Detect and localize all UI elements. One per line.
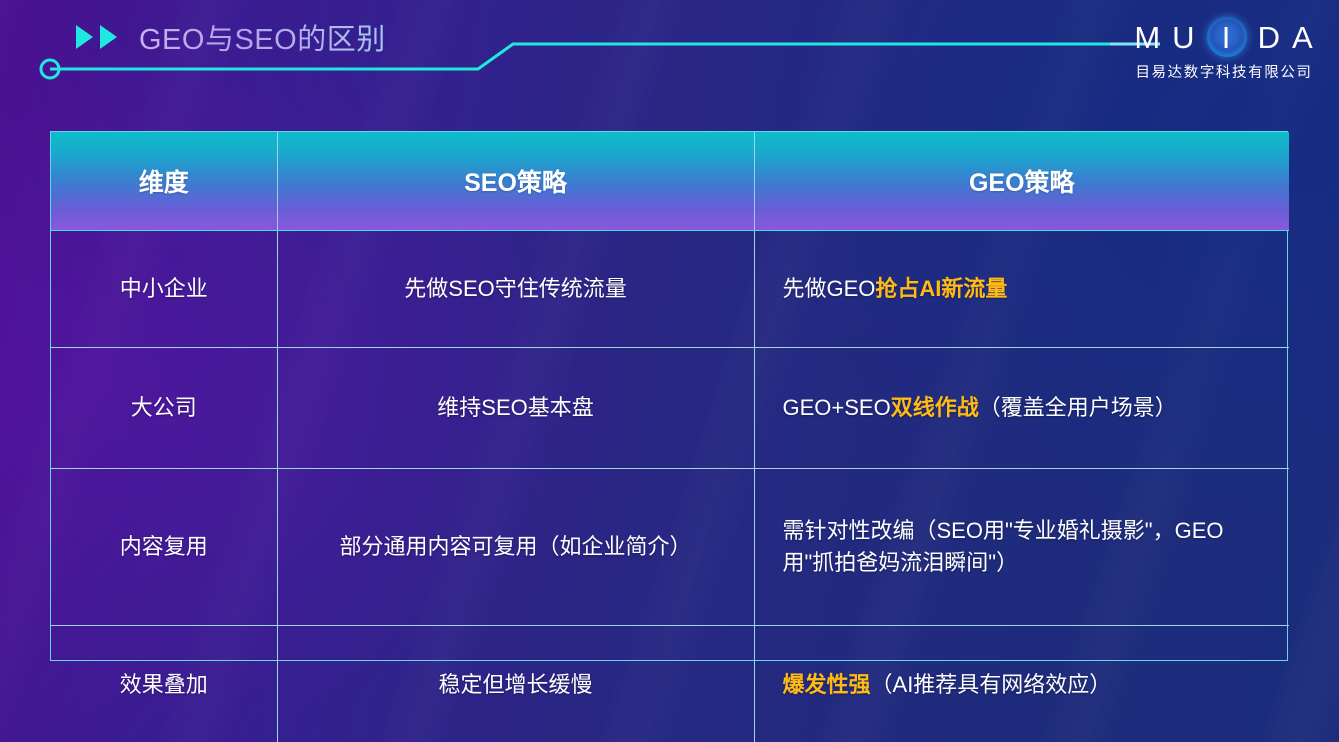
cell-dimension: 中小企业	[51, 231, 277, 348]
logo-letter-d: D	[1258, 22, 1281, 53]
cell-dimension: 大公司	[51, 348, 277, 469]
geo-text-plain: 先做GEO	[783, 276, 876, 301]
geo-text-trailing: （AI推荐具有网络效应）	[871, 672, 1112, 697]
table-row: 效果叠加 稳定但增长缓慢 爆发性强（AI推荐具有网络效应）	[51, 626, 1289, 742]
column-header-geo: GEO策略	[754, 132, 1289, 231]
column-header-seo: SEO策略	[277, 132, 754, 231]
title-bullets	[76, 25, 117, 49]
geo-text-trailing: （覆盖全用户场景）	[979, 395, 1177, 420]
slide-header: GEO与SEO的区别 M U I D A 目易达数字科技有限公司	[0, 0, 1339, 112]
triangle-right-icon	[76, 25, 93, 49]
cell-seo: 维持SEO基本盘	[277, 348, 754, 469]
cell-geo: GEO+SEO双线作战（覆盖全用户场景）	[754, 348, 1289, 469]
logo-orb-icon: I	[1207, 17, 1247, 57]
logo-letter-i: I	[1222, 22, 1232, 53]
comparison-table: 维度 SEO策略 GEO策略 中小企业 先做SEO守住传统流量 先做GEO抢占A…	[50, 131, 1288, 661]
brand-logo: M U I D A 目易达数字科技有限公司	[1131, 16, 1317, 82]
geo-text-plain: GEO+SEO	[783, 395, 891, 420]
geo-text-highlight: 抢占AI新流量	[875, 276, 1007, 301]
geo-text-highlight: 爆发性强	[783, 672, 871, 697]
cell-seo: 稳定但增长缓慢	[277, 626, 754, 742]
cell-geo: 需针对性改编（SEO用"专业婚礼摄影"，GEO用"抓拍爸妈流泪瞬间"）	[754, 469, 1289, 626]
cell-dimension: 效果叠加	[51, 626, 277, 742]
triangle-right-icon	[100, 25, 117, 49]
table-row: 内容复用 部分通用内容可复用（如企业简介） 需针对性改编（SEO用"专业婚礼摄影…	[51, 469, 1289, 626]
column-header-dimension: 维度	[51, 132, 277, 231]
logo-wordmark: M U I D A	[1131, 16, 1317, 58]
company-name: 目易达数字科技有限公司	[1131, 61, 1317, 82]
logo-letter-m: M	[1134, 22, 1161, 53]
cell-geo: 爆发性强（AI推荐具有网络效应）	[754, 626, 1289, 742]
slide-root: GEO与SEO的区别 M U I D A 目易达数字科技有限公司 维度	[0, 0, 1339, 742]
page-title: GEO与SEO的区别	[76, 16, 386, 58]
table-header-row: 维度 SEO策略 GEO策略	[51, 132, 1289, 231]
cell-seo: 部分通用内容可复用（如企业简介）	[277, 469, 754, 626]
geo-text-highlight: 双线作战	[891, 395, 979, 420]
table-row: 大公司 维持SEO基本盘 GEO+SEO双线作战（覆盖全用户场景）	[51, 348, 1289, 469]
page-title-text: GEO与SEO的区别	[139, 16, 386, 58]
logo-letter-a: A	[1292, 22, 1314, 53]
table-row: 中小企业 先做SEO守住传统流量 先做GEO抢占AI新流量	[51, 231, 1289, 348]
geo-text-plain: 需针对性改编（SEO用"专业婚礼摄影"，GEO用"抓拍爸妈流泪瞬间"）	[783, 518, 1224, 575]
cell-seo: 先做SEO守住传统流量	[277, 231, 754, 348]
cell-dimension: 内容复用	[51, 469, 277, 626]
cell-geo: 先做GEO抢占AI新流量	[754, 231, 1289, 348]
logo-letter-u: U	[1172, 22, 1195, 53]
